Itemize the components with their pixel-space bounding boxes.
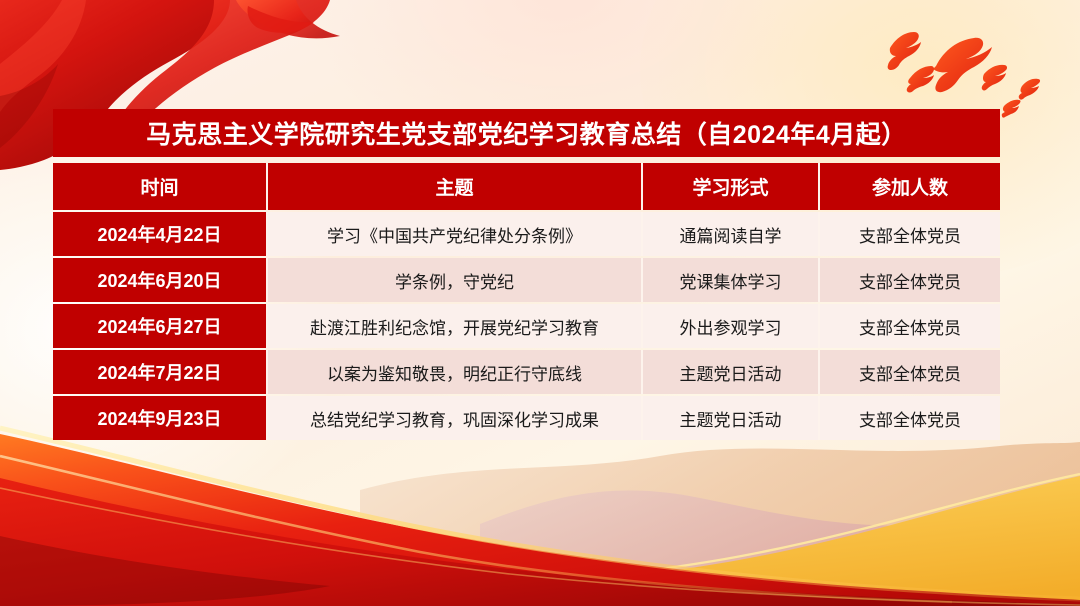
table-title: 马克思主义学院研究生党支部党纪学习教育总结（自2024年4月起） — [53, 109, 1000, 157]
cell-time: 2024年7月22日 — [53, 350, 268, 394]
table-header-row: 时间 主题 学习形式 参加人数 — [53, 163, 1000, 210]
table-row: 2024年6月27日 赴渡江胜利纪念馆，开展党纪学习教育 外出参观学习 支部全体… — [53, 304, 1000, 348]
table-title-row: 马克思主义学院研究生党支部党纪学习教育总结（自2024年4月起） — [53, 109, 1000, 157]
cell-attendees: 支部全体党员 — [820, 396, 1000, 440]
table-row: 2024年9月23日 总结党纪学习教育，巩固深化学习成果 主题党日活动 支部全体… — [53, 396, 1000, 440]
cell-time: 2024年6月20日 — [53, 258, 268, 302]
cell-theme: 以案为鉴知敬畏，明纪正行守底线 — [268, 350, 643, 394]
header-form: 学习形式 — [643, 163, 820, 210]
cell-form: 通篇阅读自学 — [643, 212, 820, 256]
summary-table-container: 马克思主义学院研究生党支部党纪学习教育总结（自2024年4月起） 时间 主题 学… — [53, 107, 1000, 442]
cell-time: 2024年4月22日 — [53, 212, 268, 256]
header-attendees: 参加人数 — [820, 163, 1000, 210]
cell-time: 2024年9月23日 — [53, 396, 268, 440]
cell-form: 外出参观学习 — [643, 304, 820, 348]
header-time: 时间 — [53, 163, 268, 210]
cell-form: 党课集体学习 — [643, 258, 820, 302]
table-row: 2024年6月20日 学条例，守党纪 党课集体学习 支部全体党员 — [53, 258, 1000, 302]
cell-attendees: 支部全体党员 — [820, 304, 1000, 348]
table-row: 2024年4月22日 学习《中国共产党纪律处分条例》 通篇阅读自学 支部全体党员 — [53, 212, 1000, 256]
party-discipline-summary-table: 马克思主义学院研究生党支部党纪学习教育总结（自2024年4月起） 时间 主题 学… — [53, 107, 1000, 442]
poster-canvas: 马克思主义学院研究生党支部党纪学习教育总结（自2024年4月起） 时间 主题 学… — [0, 0, 1080, 606]
title-header-gap — [53, 159, 1000, 161]
cell-theme: 赴渡江胜利纪念馆，开展党纪学习教育 — [268, 304, 643, 348]
cell-theme: 学习《中国共产党纪律处分条例》 — [268, 212, 643, 256]
cell-attendees: 支部全体党员 — [820, 350, 1000, 394]
cell-attendees: 支部全体党员 — [820, 258, 1000, 302]
cell-time: 2024年6月27日 — [53, 304, 268, 348]
header-theme: 主题 — [268, 163, 643, 210]
cell-theme: 学条例，守党纪 — [268, 258, 643, 302]
table-row: 2024年7月22日 以案为鉴知敬畏，明纪正行守底线 主题党日活动 支部全体党员 — [53, 350, 1000, 394]
cell-attendees: 支部全体党员 — [820, 212, 1000, 256]
cell-form: 主题党日活动 — [643, 396, 820, 440]
bottom-ribbon-decoration — [0, 416, 1080, 606]
cell-theme: 总结党纪学习教育，巩固深化学习成果 — [268, 396, 643, 440]
cell-form: 主题党日活动 — [643, 350, 820, 394]
